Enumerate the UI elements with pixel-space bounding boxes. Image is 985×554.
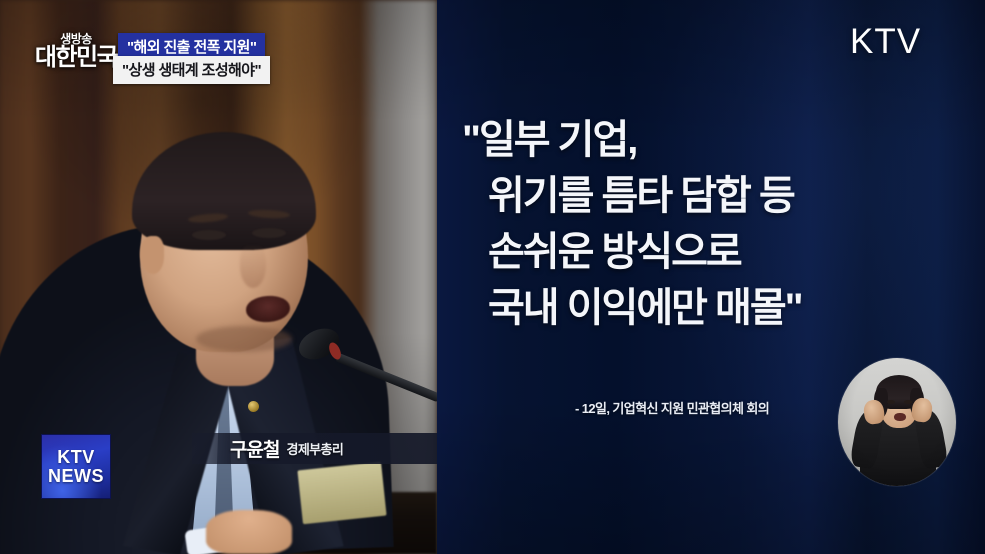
channel-bug-logo: KTV NEWS [41, 434, 111, 499]
quote-source-attribution: - 12일, 기업혁신 지원 민관협의체 회의 [575, 398, 769, 417]
interpreter-vignette [838, 358, 956, 486]
channel-watermark: KTV [850, 22, 921, 62]
quote-line-3: 손쉬운 방식으로 [462, 224, 802, 280]
broadcast-screen: 생방송 대한민국 "해외 진출 전폭 지원" "상생 생태계 조성해야" 구윤철… [0, 0, 985, 554]
quote-line-2: 위기를 틈타 담합 등 [462, 168, 802, 224]
program-logo: 생방송 대한민국 [30, 33, 122, 70]
quote-line-1: "일부 기업, [462, 112, 802, 168]
speaker-hand [206, 510, 292, 554]
speaker-eye-left [192, 230, 226, 240]
program-title-label: 대한민국 [30, 46, 122, 70]
speaker-name-label: 구윤철 [230, 435, 279, 462]
speaker-title-label: 경제부총리 [286, 439, 343, 458]
speaker-eye-right [252, 228, 286, 238]
desk-document [297, 462, 386, 524]
speaker-nose [240, 244, 266, 288]
channel-bug-line2: NEWS [48, 467, 104, 485]
channel-bug-line1: KTV [57, 448, 95, 466]
lower-third-name-bar: 구윤철 경제부총리 [192, 433, 437, 464]
sign-language-interpreter-inset [838, 358, 956, 486]
speaker-chin-shadow [196, 326, 292, 352]
government-lapel-pin [248, 401, 259, 412]
quote-text-block: "일부 기업, 위기를 틈타 담합 등 손쉬운 방식으로 국내 이익에만 매몰" [462, 112, 802, 336]
speaker-ear [140, 236, 164, 274]
quote-line-4: 국내 이익에만 매몰" [462, 280, 802, 336]
headline-banner-secondary: "상생 생태계 조성해야" [113, 56, 270, 84]
